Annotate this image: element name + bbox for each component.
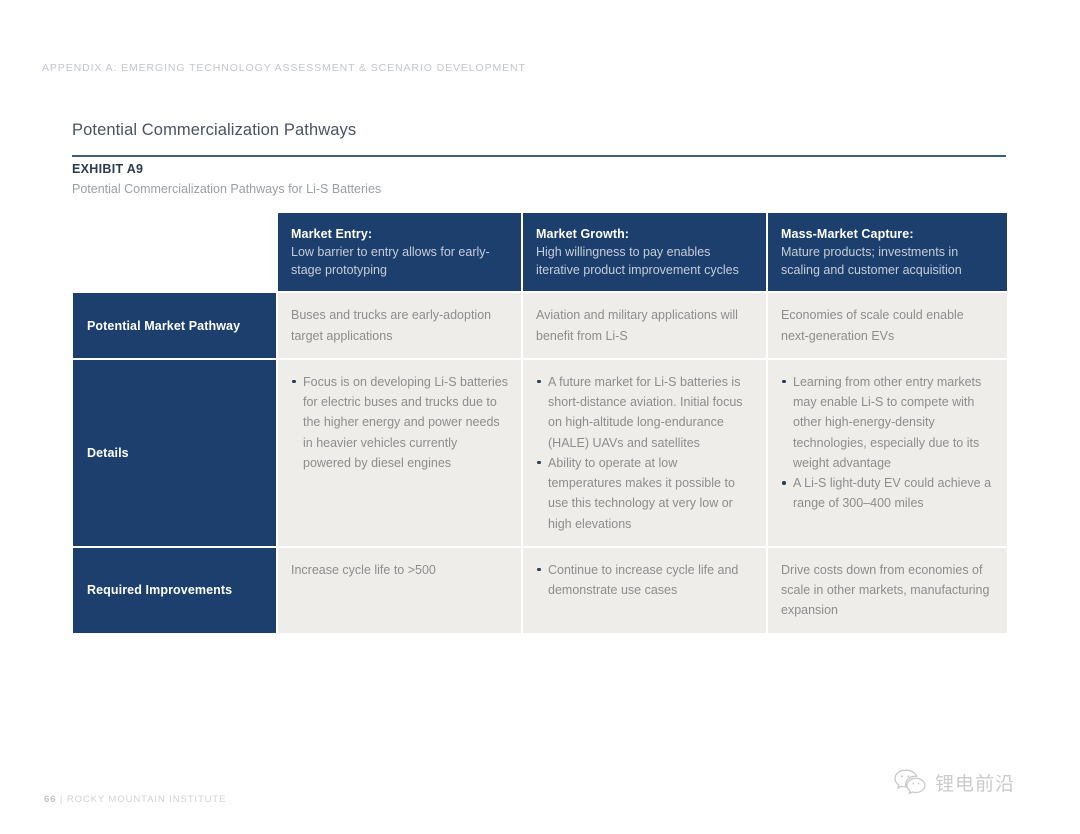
row-label-potential-market-pathway: Potential Market Pathway	[73, 293, 276, 358]
footer-organization: ROCKY MOUNTAIN INSTITUTE	[67, 794, 227, 805]
running-head: APPENDIX A: EMERGING TECHNOLOGY ASSESSME…	[42, 62, 526, 74]
section-divider	[72, 155, 1006, 157]
pathways-table: Market Entry: Low barrier to entry allow…	[73, 213, 1005, 633]
table-cell: Aviation and military applications will …	[523, 293, 766, 358]
list-item: A Li-S light-duty EV could achieve a ran…	[781, 473, 994, 514]
table-row: Details Focus is on developing Li-S batt…	[73, 360, 1005, 546]
column-header-market-growth: Market Growth: High willingness to pay e…	[523, 213, 766, 291]
document-page: APPENDIX A: EMERGING TECHNOLOGY ASSESSME…	[0, 0, 1080, 834]
row-label-required-improvements: Required Improvements	[73, 548, 276, 633]
table-cell: Increase cycle life to >500	[278, 548, 521, 633]
table-cell: Learning from other entry markets may en…	[768, 360, 1007, 546]
bullet-list: A future market for Li-S batteries is sh…	[536, 372, 753, 534]
exhibit-subtitle: Potential Commercialization Pathways for…	[72, 182, 381, 196]
cell-text: Economies of scale could enable next-gen…	[781, 305, 994, 346]
cell-text: Drive costs down from economies of scale…	[781, 560, 994, 621]
wechat-icon	[893, 768, 927, 796]
footer-separator: |	[60, 794, 63, 805]
column-header-subtitle: Mature products; investments in scaling …	[781, 243, 994, 279]
table-row: Required Improvements Increase cycle lif…	[73, 548, 1005, 633]
table-cell: Economies of scale could enable next-gen…	[768, 293, 1007, 358]
list-item: Ability to operate at low temperatures m…	[536, 453, 753, 534]
bullet-list: Learning from other entry markets may en…	[781, 372, 994, 514]
column-header-mass-market-capture: Mass-Market Capture: Mature products; in…	[768, 213, 1007, 291]
cell-text: Buses and trucks are early-adoption targ…	[291, 305, 508, 346]
table-cell: Continue to increase cycle life and demo…	[523, 548, 766, 633]
page-footer: 66 | ROCKY MOUNTAIN INSTITUTE	[44, 794, 226, 805]
list-item: Learning from other entry markets may en…	[781, 372, 994, 473]
column-header-market-entry: Market Entry: Low barrier to entry allow…	[278, 213, 521, 291]
bullet-list: Focus is on developing Li-S batteries fo…	[291, 372, 508, 473]
list-item: Continue to increase cycle life and demo…	[536, 560, 753, 601]
page-number: 66	[44, 794, 56, 805]
table-cell: A future market for Li-S batteries is sh…	[523, 360, 766, 546]
table-cell: Focus is on developing Li-S batteries fo…	[278, 360, 521, 546]
column-header-subtitle: High willingness to pay enables iterativ…	[536, 243, 753, 279]
table-row: Potential Market Pathway Buses and truck…	[73, 293, 1005, 358]
column-header-title: Mass-Market Capture:	[781, 225, 994, 243]
cell-text: Aviation and military applications will …	[536, 305, 753, 346]
list-item: A future market for Li-S batteries is sh…	[536, 372, 753, 453]
table-header-row: Market Entry: Low barrier to entry allow…	[73, 213, 1005, 291]
table-cell: Drive costs down from economies of scale…	[768, 548, 1007, 633]
watermark-text: 锂电前沿	[935, 769, 1015, 796]
column-header-title: Market Growth:	[536, 225, 753, 243]
watermark: 锂电前沿	[893, 768, 1015, 796]
column-header-subtitle: Low barrier to entry allows for early-st…	[291, 243, 508, 279]
exhibit-label: EXHIBIT A9	[72, 162, 143, 176]
list-item: Focus is on developing Li-S batteries fo…	[291, 372, 508, 473]
header-corner-spacer	[73, 213, 276, 291]
table-cell: Buses and trucks are early-adoption targ…	[278, 293, 521, 358]
cell-text: Increase cycle life to >500	[291, 560, 508, 580]
row-label-details: Details	[73, 360, 276, 546]
bullet-list: Continue to increase cycle life and demo…	[536, 560, 753, 601]
column-header-title: Market Entry:	[291, 225, 508, 243]
section-title: Potential Commercialization Pathways	[72, 121, 356, 140]
